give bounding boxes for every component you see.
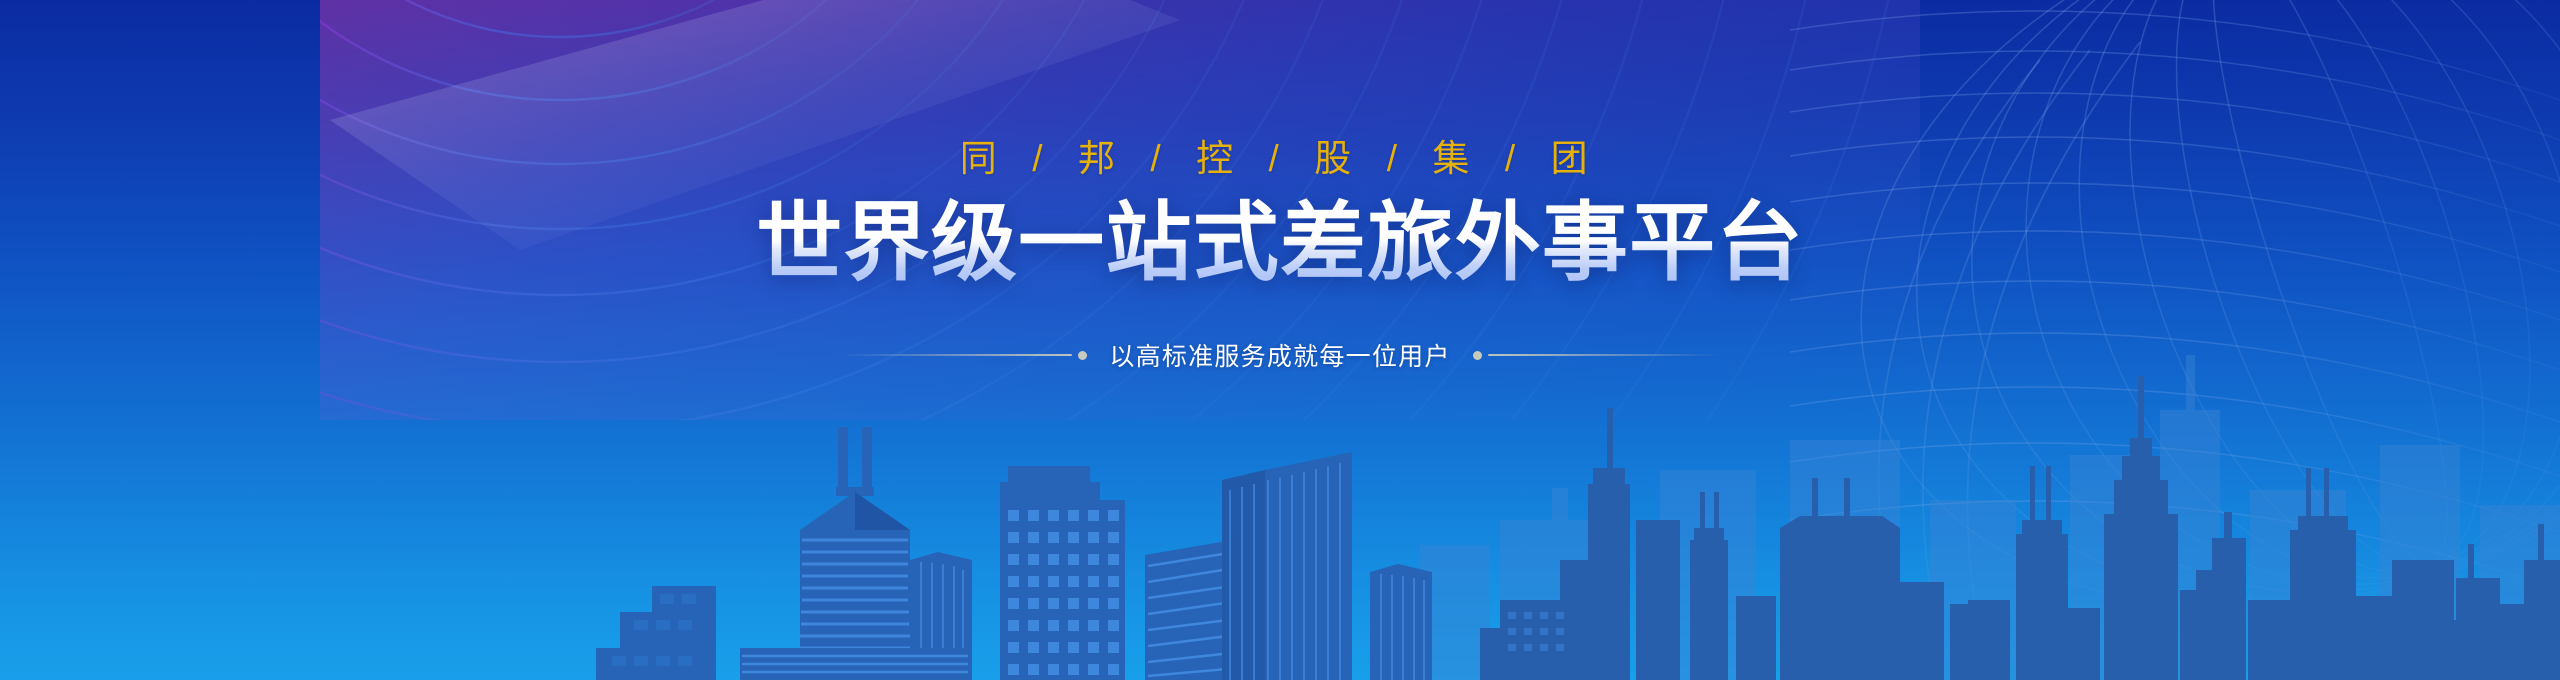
brand-name: 同 / 邦 / 控 / 股 / 集 / 团 xyxy=(0,128,2560,182)
divider-left-dot-icon xyxy=(1078,351,1087,360)
divider-right xyxy=(1473,351,1718,360)
divider-left xyxy=(842,351,1087,360)
divider-right-dot-icon xyxy=(1473,351,1482,360)
hero-banner: 同 / 邦 / 控 / 股 / 集 / 团 世界级一站式差旅外事平台 以高标准服… xyxy=(0,0,2560,680)
banner-subtitle: 以高标准服务成就每一位用户 xyxy=(1109,337,1450,373)
divider-left-bar xyxy=(842,354,1072,356)
page-title: 世界级一站式差旅外事平台 xyxy=(0,197,2560,290)
divider-right-bar xyxy=(1488,354,1718,356)
subtitle-row: 以高标准服务成就每一位用户 xyxy=(0,337,2560,373)
